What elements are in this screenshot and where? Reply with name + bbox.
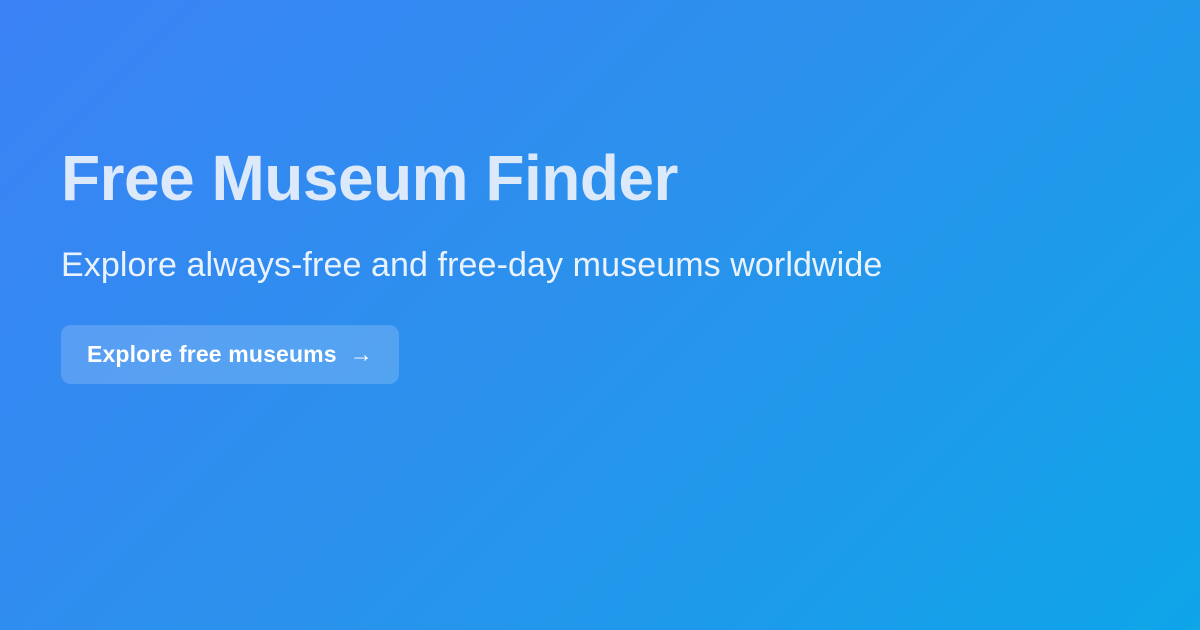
explore-free-museums-button[interactable]: Explore free museums → [61, 325, 399, 384]
page-subtitle: Explore always-free and free-day museums… [61, 248, 882, 282]
explore-free-museums-button-label: Explore free museums [87, 343, 337, 366]
page-title: Free Museum Finder [61, 146, 678, 210]
og-card: Free Museum Finder Explore always-free a… [0, 0, 1200, 630]
hero-section: Free Museum Finder Explore always-free a… [61, 0, 1141, 630]
arrow-right-icon: → [350, 343, 373, 366]
